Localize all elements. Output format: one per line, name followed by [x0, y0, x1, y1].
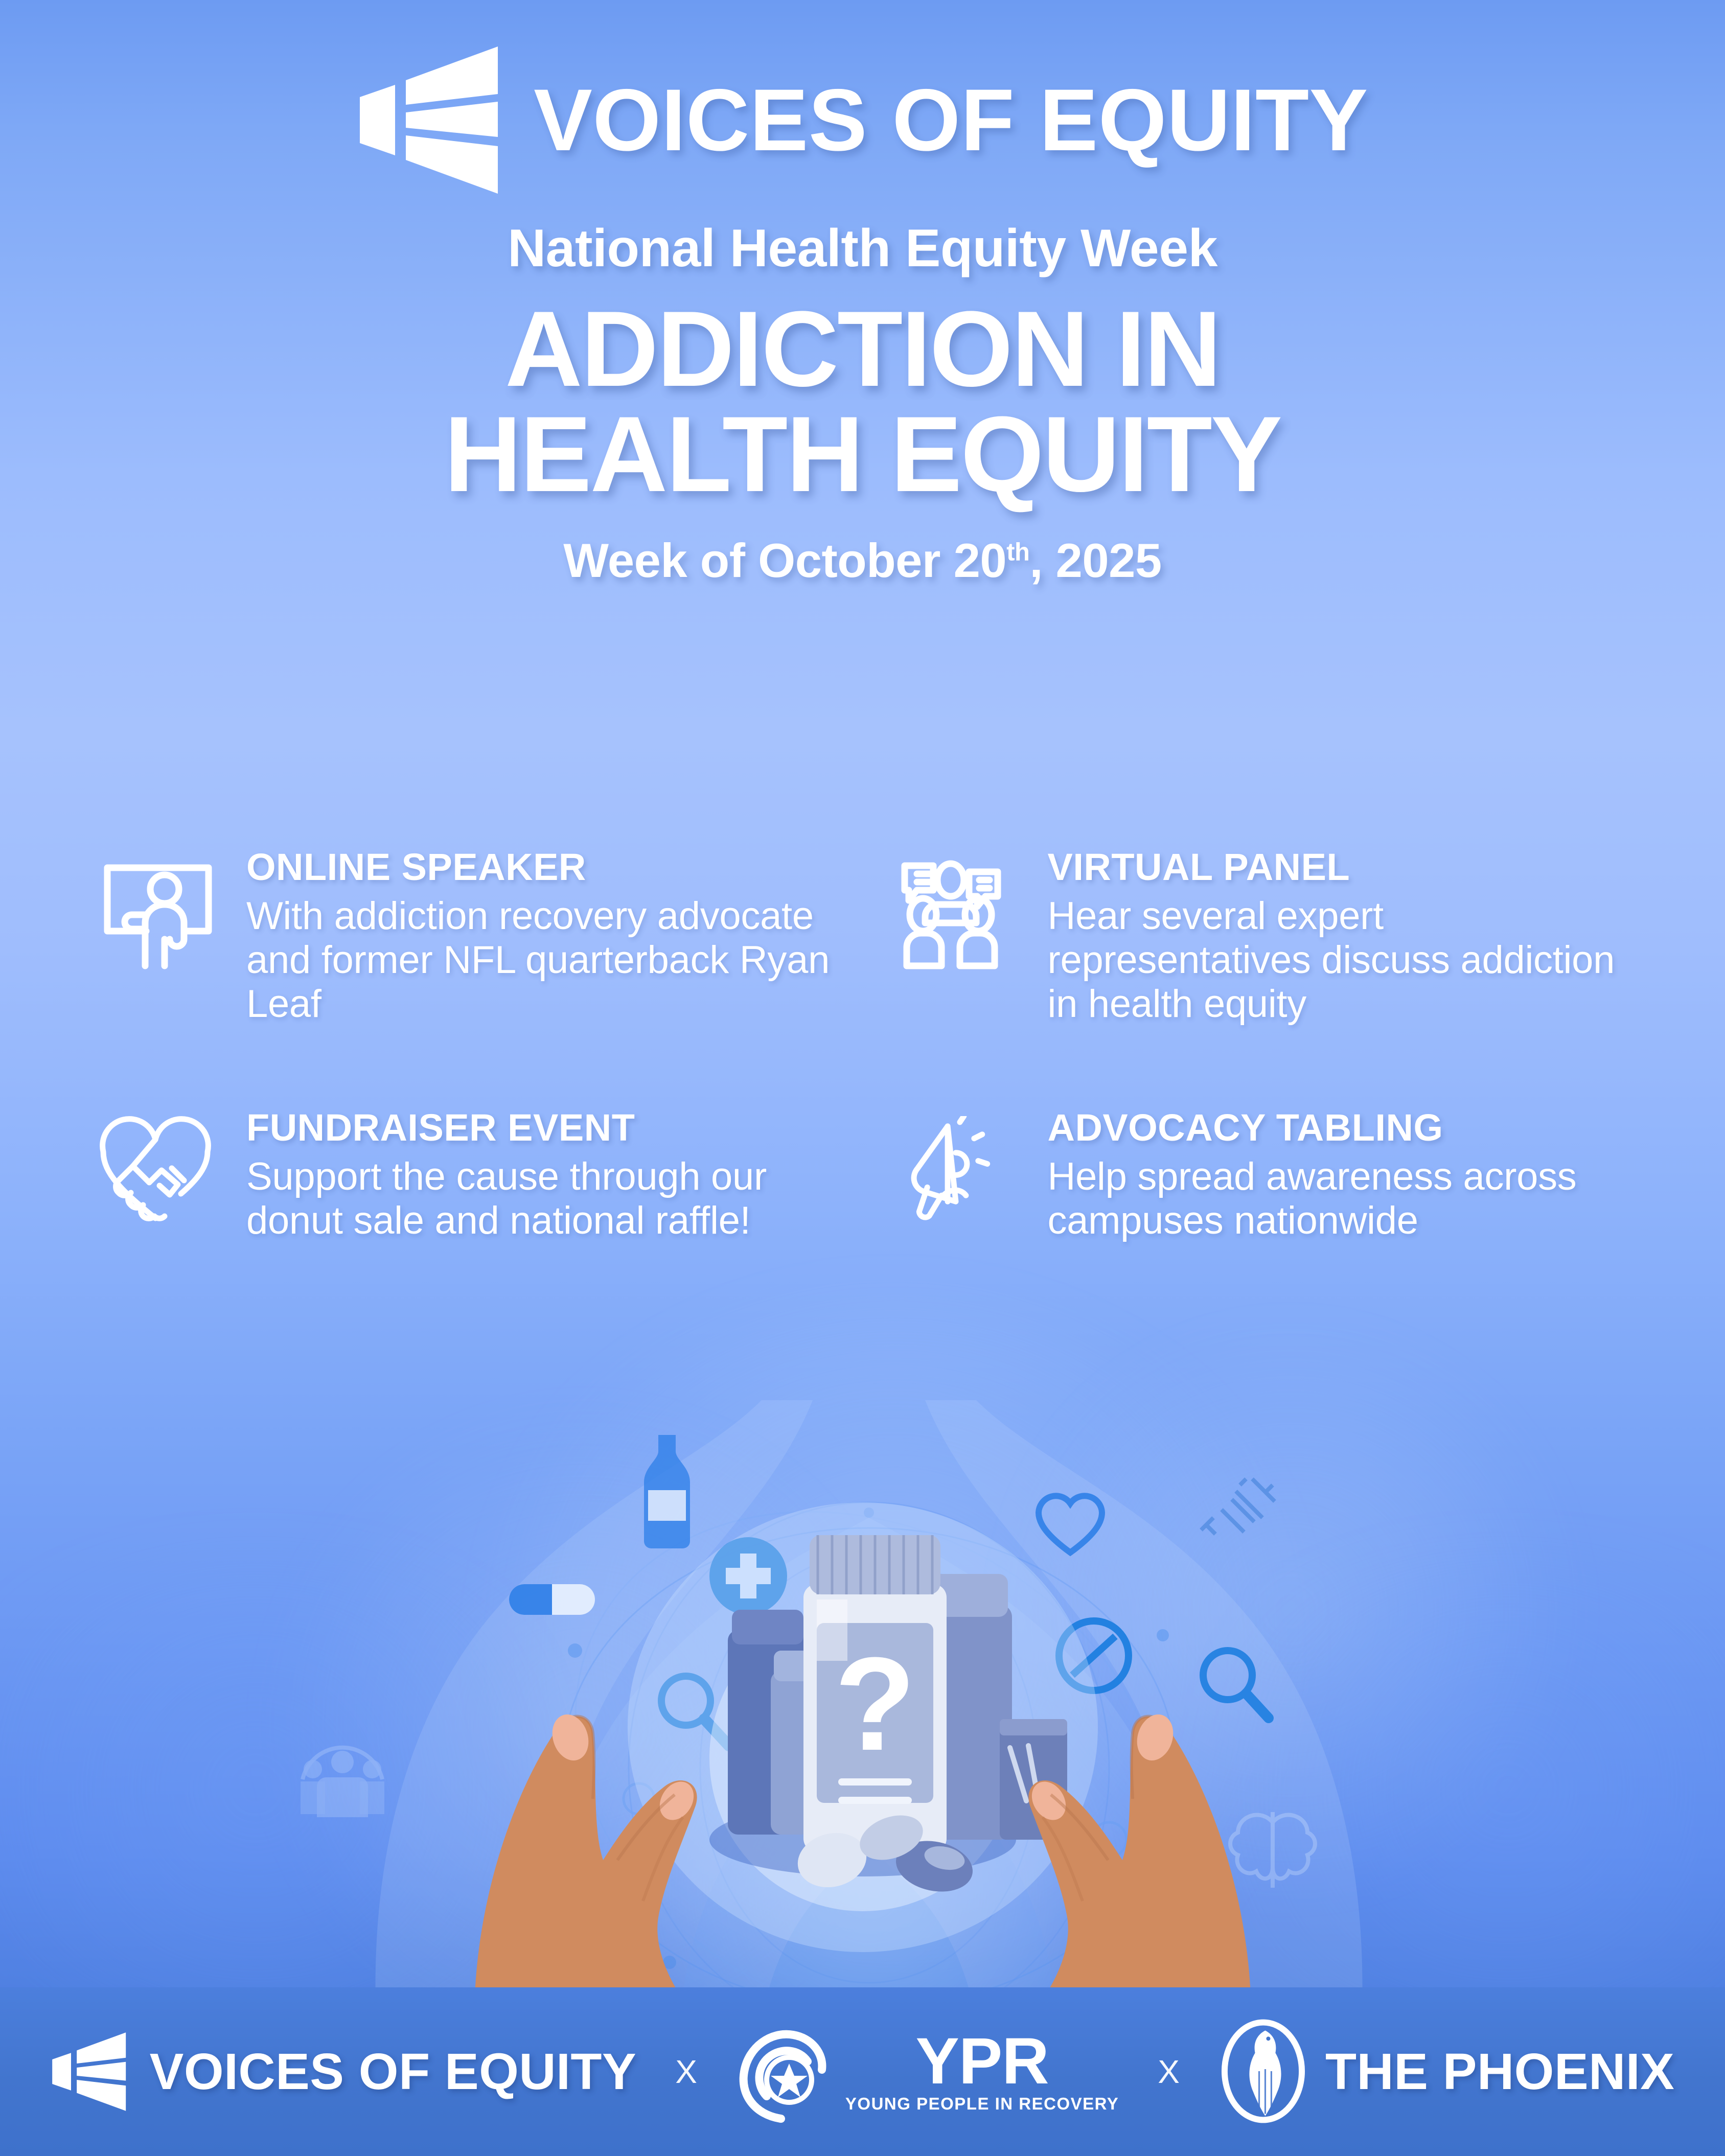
presenter-whiteboard-icon [97, 855, 219, 974]
ypr-tagline: YOUNG PEOPLE IN RECOVERY [845, 2095, 1119, 2112]
feature-icon-wrap [97, 1109, 225, 1223]
feature-icon-wrap [899, 848, 1026, 974]
feature-body: FUNDRAISER EVENT Support the cause throu… [246, 1109, 847, 1243]
footer-logo-voices-of-equity: VOICES OF EQUITY [51, 2032, 637, 2112]
poster-header: VOICES OF EQUITY National Health Equity … [0, 46, 1725, 585]
event-subtitle: National Health Equity Week [0, 222, 1725, 275]
footer-separator-1: X [675, 2055, 697, 2088]
feature-body: ONLINE SPEAKER With addiction recovery a… [246, 848, 847, 1026]
footer-logo-the-phoenix: THE PHOENIX [1218, 2018, 1674, 2125]
feature-body: ADVOCACY TABLING Help spread awareness a… [1048, 1109, 1649, 1243]
feature-virtual-panel: VIRTUAL PANEL Hear several expert repres… [899, 848, 1649, 1026]
feature-grid: ONLINE SPEAKER With addiction recovery a… [97, 848, 1648, 1242]
illustration-svg: ? [464, 1421, 1261, 2024]
hands-holding-pill-bottles: ? [0, 1421, 1725, 2024]
feature-online-speaker: ONLINE SPEAKER With addiction recovery a… [97, 848, 847, 1026]
footer-separator-2: X [1158, 2055, 1180, 2088]
title-line-1: ADDICTION IN [505, 289, 1220, 409]
feature-body: VIRTUAL PANEL Hear several expert repres… [1048, 848, 1649, 1026]
partner-footer: VOICES OF EQUITY X YPR YOUNG PEOPLE IN R… [0, 1987, 1725, 2156]
ypr-spiral-star-icon [736, 2021, 838, 2123]
feature-description: With addiction recovery advocate and for… [246, 894, 847, 1026]
megaphone-logo [51, 2032, 132, 2112]
brand-lockup: VOICES OF EQUITY [0, 46, 1725, 194]
feature-title: ADVOCACY TABLING [1048, 1109, 1649, 1147]
date-prefix: Week of October 20 [563, 534, 1006, 587]
page-title: ADDICTION IN HEALTH EQUITY [0, 296, 1725, 507]
feature-icon-wrap [899, 1109, 1026, 1226]
pill-bottle-main: ? [803, 1535, 947, 1852]
feature-description: Support the cause through our donut sale… [246, 1155, 847, 1243]
phoenix-bird-icon [1218, 2018, 1308, 2125]
feature-title: VIRTUAL PANEL [1048, 848, 1649, 886]
footer-phoenix-wordmark: THE PHOENIX [1325, 2046, 1674, 2097]
date-ordinal: th [1006, 538, 1029, 566]
footer-logo-ypr: YPR YOUNG PEOPLE IN RECOVERY [736, 2021, 1119, 2123]
ypr-initials: YPR [916, 2031, 1049, 2092]
feature-fundraiser-event: FUNDRAISER EVENT Support the cause throu… [97, 1109, 847, 1243]
feature-title: FUNDRAISER EVENT [246, 1109, 847, 1147]
brand-wordmark: VOICES OF EQUITY [534, 76, 1368, 164]
ypr-wordmark: YPR YOUNG PEOPLE IN RECOVERY [845, 2031, 1119, 2113]
feature-title: ONLINE SPEAKER [246, 848, 847, 886]
people-speech-bubbles-icon [899, 855, 1020, 974]
feature-advocacy-tabling: ADVOCACY TABLING Help spread awareness a… [899, 1109, 1649, 1243]
event-dateline: Week of October 20th, 2025 [0, 537, 1725, 585]
date-suffix: , 2025 [1029, 534, 1161, 587]
poster-canvas: VOICES OF EQUITY National Health Equity … [0, 0, 1725, 2156]
title-line-2: HEALTH EQUITY [0, 402, 1725, 507]
megaphone-icon [899, 1116, 1015, 1226]
megaphone-logo [357, 46, 510, 194]
handshake-heart-icon [97, 1116, 214, 1223]
feature-description: Hear several expert representatives disc… [1048, 894, 1649, 1026]
feature-icon-wrap [97, 848, 225, 974]
footer-voices-wordmark: VOICES OF EQUITY [150, 2046, 637, 2097]
feature-description: Help spread awareness across campuses na… [1048, 1155, 1649, 1243]
